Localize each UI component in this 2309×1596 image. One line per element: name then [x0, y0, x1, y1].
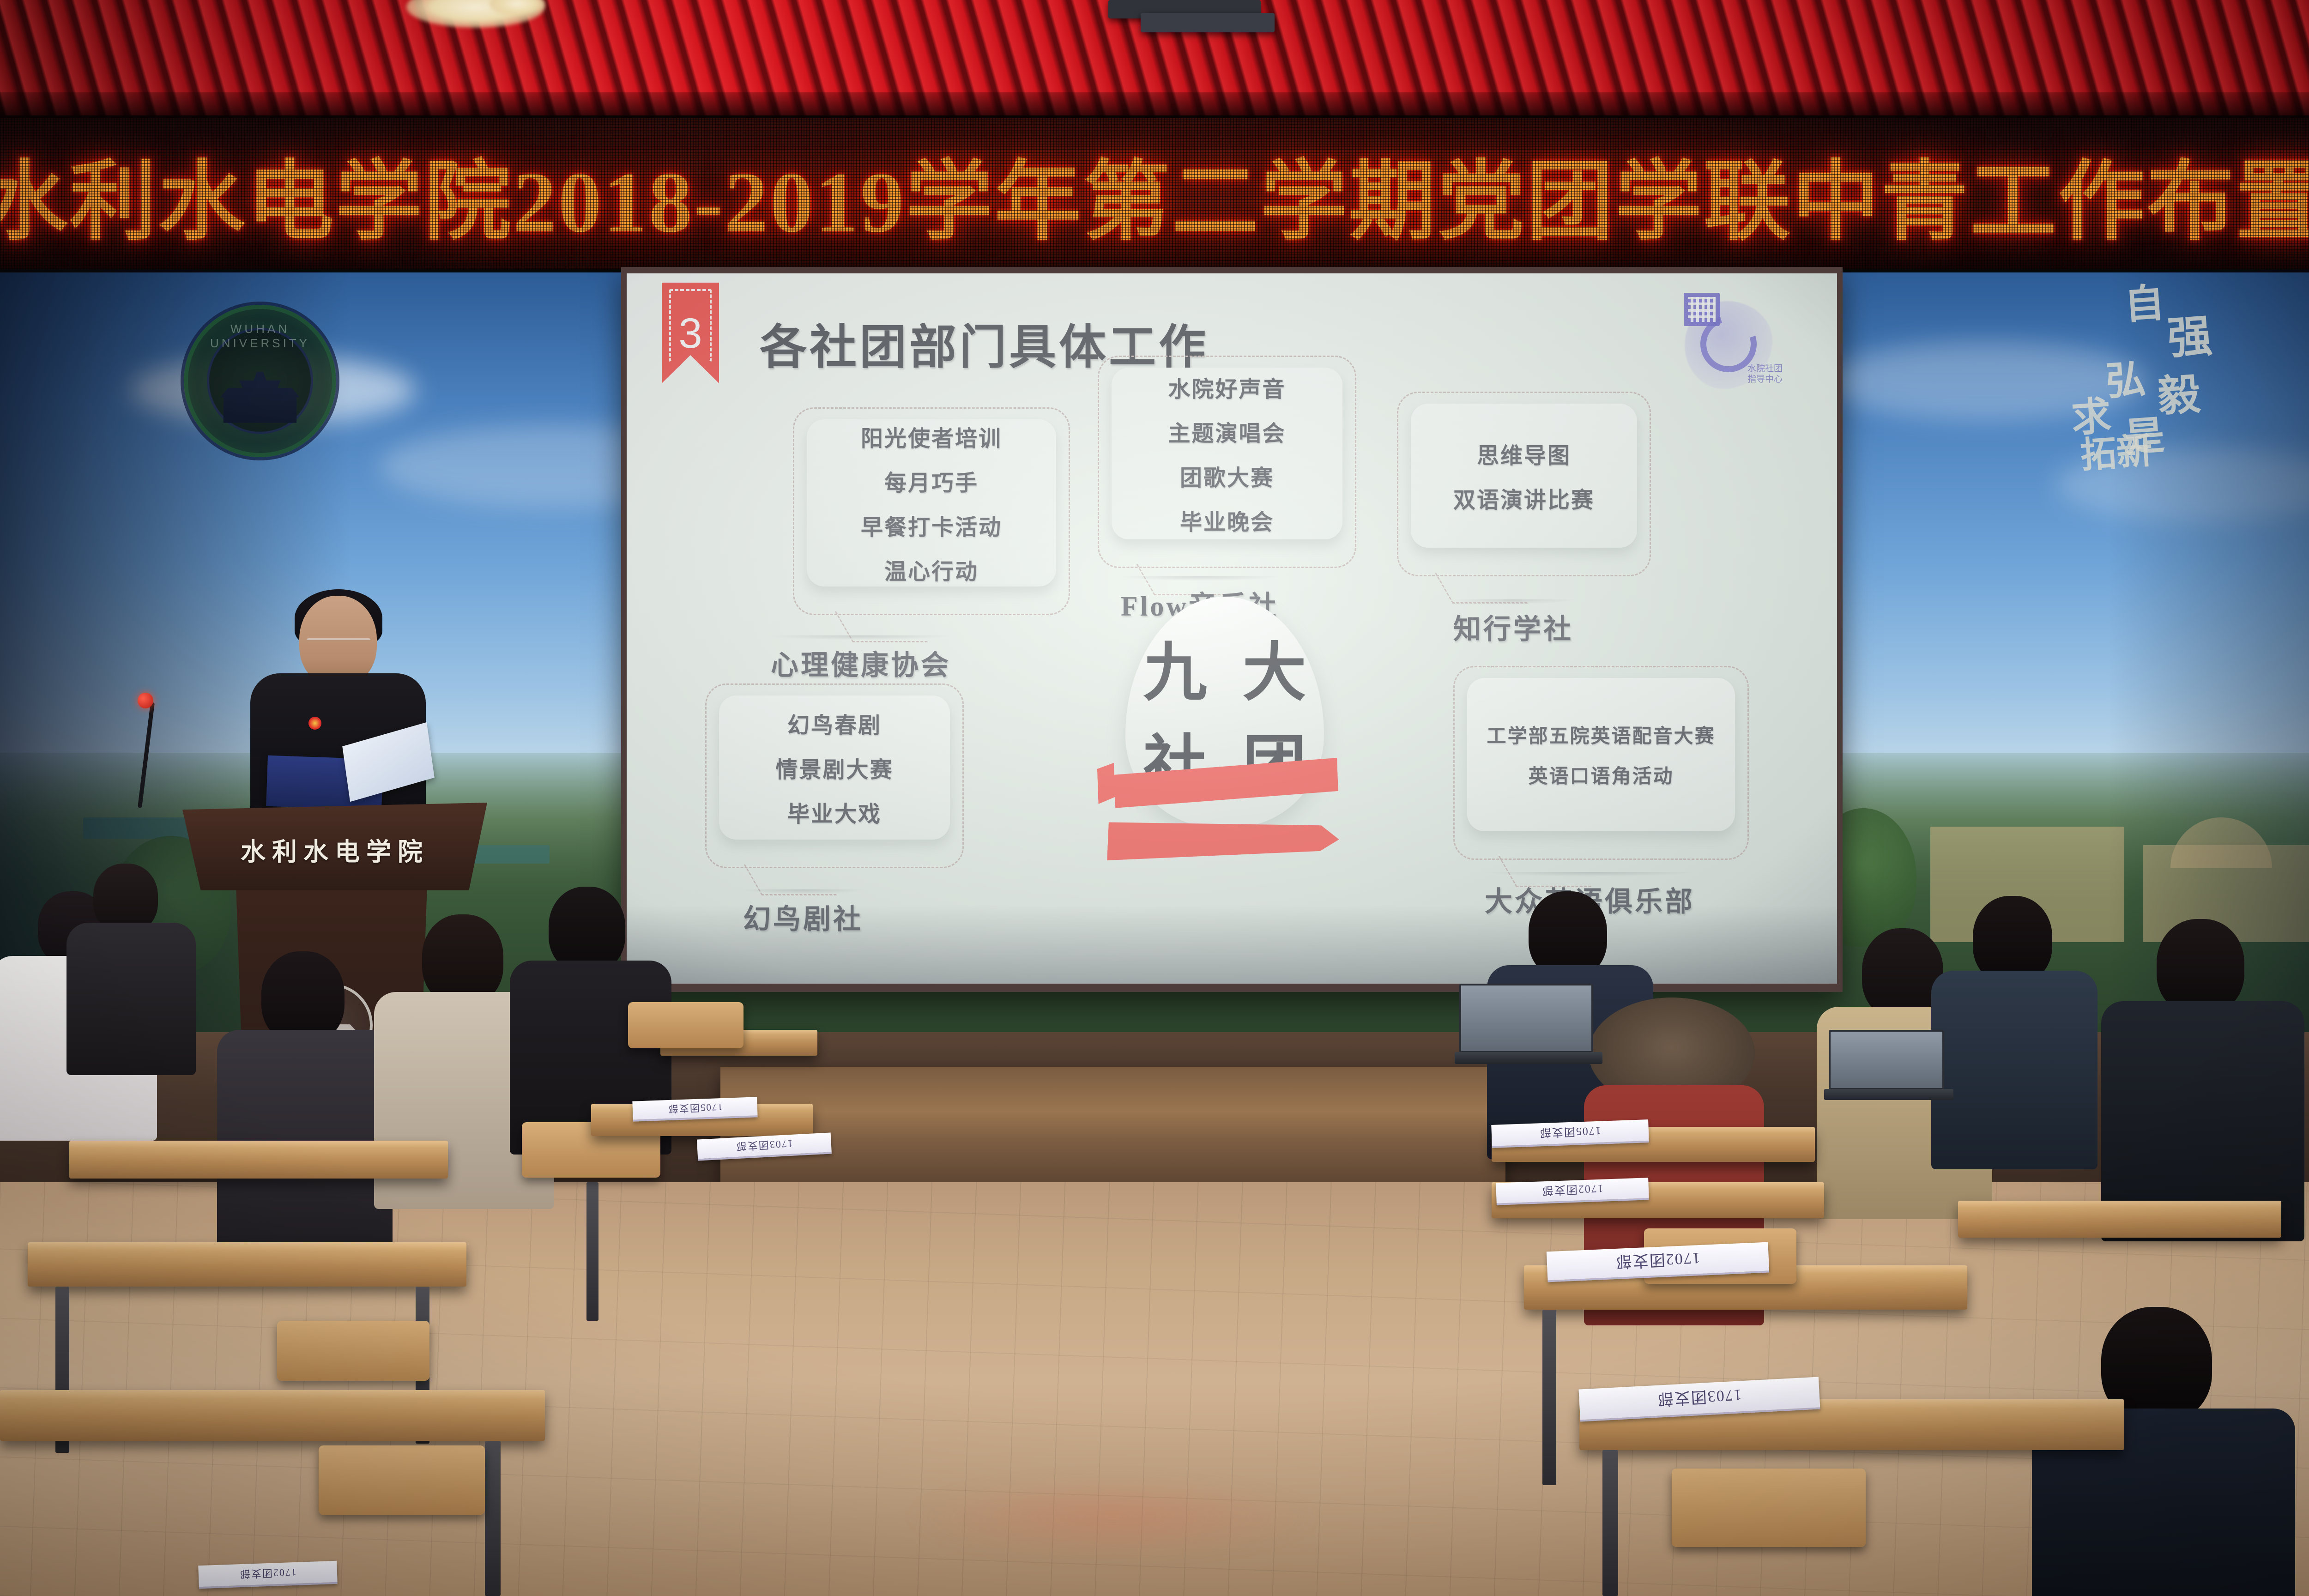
activity-item: 水院好声音 [1168, 371, 1286, 403]
activity-item: 每月巧手 [884, 465, 979, 497]
conference-room-photo: 水利水电学院2018-2019学年第二学期党团学联中青工作布置会 WUHAN U… [0, 0, 2309, 1596]
person-coat [66, 923, 196, 1075]
desk-leg [1542, 1310, 1556, 1485]
crest-label: WUHAN UNIVERSITY [188, 322, 332, 351]
desk-leg [485, 1441, 501, 1596]
activity-item: 毕业大戏 [787, 796, 882, 828]
audience-person [2106, 919, 2300, 1242]
club-bubble-english: 工学部五院英语配音大赛 英语口语角活动 [1453, 666, 1749, 860]
person-head [2157, 919, 2244, 1014]
motto-char-4: 毅 [2157, 373, 2202, 418]
club-bubble-zhixing: 思维导图 双语演讲比赛 [1397, 392, 1651, 576]
club-center-watermark-logo: 水院社团 指导中心 [1676, 289, 1783, 395]
name-card-text: 1705团支部 [667, 1100, 723, 1116]
speaker-glasses [307, 638, 370, 650]
activity-item: 思维导图 [1477, 437, 1571, 470]
activity-item: 主题演唱会 [1168, 415, 1286, 447]
watermark-seal-stamp-icon [1684, 293, 1720, 326]
name-card-text: 1702团支部 [239, 1566, 296, 1582]
name-card-text: 1702团支部 [1541, 1181, 1603, 1200]
activity-item: 双语演讲比赛 [1453, 482, 1595, 514]
desk-leg [1602, 1450, 1618, 1596]
activity-item: 毕业晚会 [1180, 504, 1274, 536]
audience-person [217, 951, 383, 1238]
laptop-keyboard [1455, 1052, 1602, 1064]
party-badge-pin-icon [308, 717, 321, 730]
led-banner: 水利水电学院2018-2019学年第二学期党团学联中青工作布置会 [0, 115, 2309, 272]
nine-clubs-emblem: 九 大 社 团 [1098, 597, 1347, 874]
emblem-char-1: 九 [1143, 621, 1207, 713]
led-banner-text: 水利水电学院2018-2019学年第二学期党团学联中青工作布置会 [0, 115, 2309, 272]
laptop-screen [1459, 984, 1593, 1053]
motto-char-3: 弘 [2104, 359, 2147, 402]
ceiling-projector-mount [1141, 13, 1275, 32]
laptop-right [1459, 984, 1598, 1076]
chair-back [277, 1321, 429, 1381]
laptop-keyboard [1824, 1089, 1953, 1100]
club-bubble-psychology: 阳光使者培训 每月巧手 早餐打卡活动 温心行动 [793, 407, 1070, 615]
chair-back [1672, 1469, 1866, 1547]
activity-item: 情景剧大赛 [775, 751, 893, 784]
speaker-person [240, 596, 434, 813]
motto-char-2: 强 [2166, 314, 2213, 361]
wuhan-university-crest-icon: WUHAN UNIVERSITY [184, 305, 336, 457]
motto-char-5: 求 [2070, 396, 2113, 438]
name-card-text: 1705团支部 [1539, 1124, 1601, 1142]
desk-name-card: 1702团支部 [198, 1561, 338, 1589]
pagoda-gate-icon [220, 370, 300, 423]
audience-person [1935, 896, 2092, 1164]
watermark-line-1: 水院社团 [1747, 363, 1783, 375]
desk-right-5 [1958, 1201, 2281, 1238]
activity-item: 温心行动 [884, 553, 979, 586]
name-card-text: 1703团支部 [735, 1137, 793, 1155]
laptop-right-2 [1829, 1030, 1949, 1113]
club-bubble-music: 水院好声音 主题演唱会 团歌大赛 毕业晚会 [1098, 356, 1356, 568]
slide-number-ribbon: 3 [662, 283, 719, 383]
projection-screen-frame: 3 各社团部门具体工作 水院社团 指导中心 [621, 267, 1843, 992]
audience-person [69, 864, 189, 1062]
projection-screen: 3 各社团部门具体工作 水院社团 指导中心 [627, 273, 1837, 984]
activity-item: 工学部五院英语配音大赛 [1487, 720, 1715, 749]
desk-left-2 [69, 1141, 448, 1179]
person-head [422, 914, 503, 1005]
screen-bottom-shading [627, 905, 1837, 984]
desk-name-card: 1705团支部 [632, 1097, 757, 1121]
laptop-screen [1829, 1030, 1944, 1090]
chair-back [319, 1445, 485, 1515]
watermark-text: 水院社团 指导中心 [1747, 363, 1783, 386]
bubble-card: 工学部五院英语配音大赛 英语口语角活动 [1467, 678, 1735, 831]
activity-item: 团歌大赛 [1180, 459, 1274, 492]
audience-person [2032, 1307, 2291, 1596]
desk-left-1 [28, 1242, 466, 1287]
bubble-card: 幻鸟春剧 情景剧大赛 毕业大戏 [719, 695, 950, 840]
person-coat [1931, 971, 2097, 1169]
bubble-card: 思维导图 双语演讲比赛 [1411, 404, 1637, 548]
slide-number: 3 [678, 309, 702, 358]
activity-item: 幻鸟春剧 [787, 707, 882, 739]
motto-char-1: 自 [2123, 283, 2166, 326]
emblem-calligraphy: 九 大 社 团 [1125, 621, 1324, 773]
bubble-card: 阳光使者培训 每月巧手 早餐打卡活动 温心行动 [807, 419, 1056, 586]
emblem-ribbon-bottom [1107, 816, 1340, 871]
floor-light-reflection [905, 1473, 1321, 1561]
name-card-text: 1703团支部 [1656, 1385, 1742, 1412]
name-card-text: 1702团支部 [1615, 1248, 1701, 1275]
club-name-psychology: 心理健康协会 [771, 643, 951, 683]
club-bubble-drama: 幻鸟春剧 情景剧大赛 毕业大戏 [705, 683, 964, 868]
club-name-zhixing: 知行学社 [1453, 607, 1573, 647]
microphone-led-icon [138, 693, 153, 708]
activity-item: 阳光使者培训 [861, 420, 1002, 453]
motto-char-7: 拓新 [2079, 433, 2154, 474]
person-head [549, 887, 625, 973]
activity-item: 早餐打卡活动 [861, 509, 1002, 541]
desk-leg [586, 1182, 598, 1321]
lectern-label: 水利水电学院 [182, 831, 487, 868]
desk-left-5 [0, 1390, 545, 1441]
watermark-line-2: 指导中心 [1747, 374, 1783, 385]
presentation-slide: 3 各社团部门具体工作 水院社团 指导中心 [627, 273, 1837, 984]
chair-back [628, 1002, 743, 1048]
university-motto-calligraphy: 自 强 弘 毅 求 是 拓新 [2055, 271, 2262, 487]
activity-item: 英语口语角活动 [1528, 761, 1674, 789]
emblem-char-2: 大 [1242, 621, 1306, 713]
person-coat [217, 1030, 393, 1247]
bubble-card: 水院好声音 主题演唱会 团歌大赛 毕业晚会 [1112, 368, 1342, 539]
